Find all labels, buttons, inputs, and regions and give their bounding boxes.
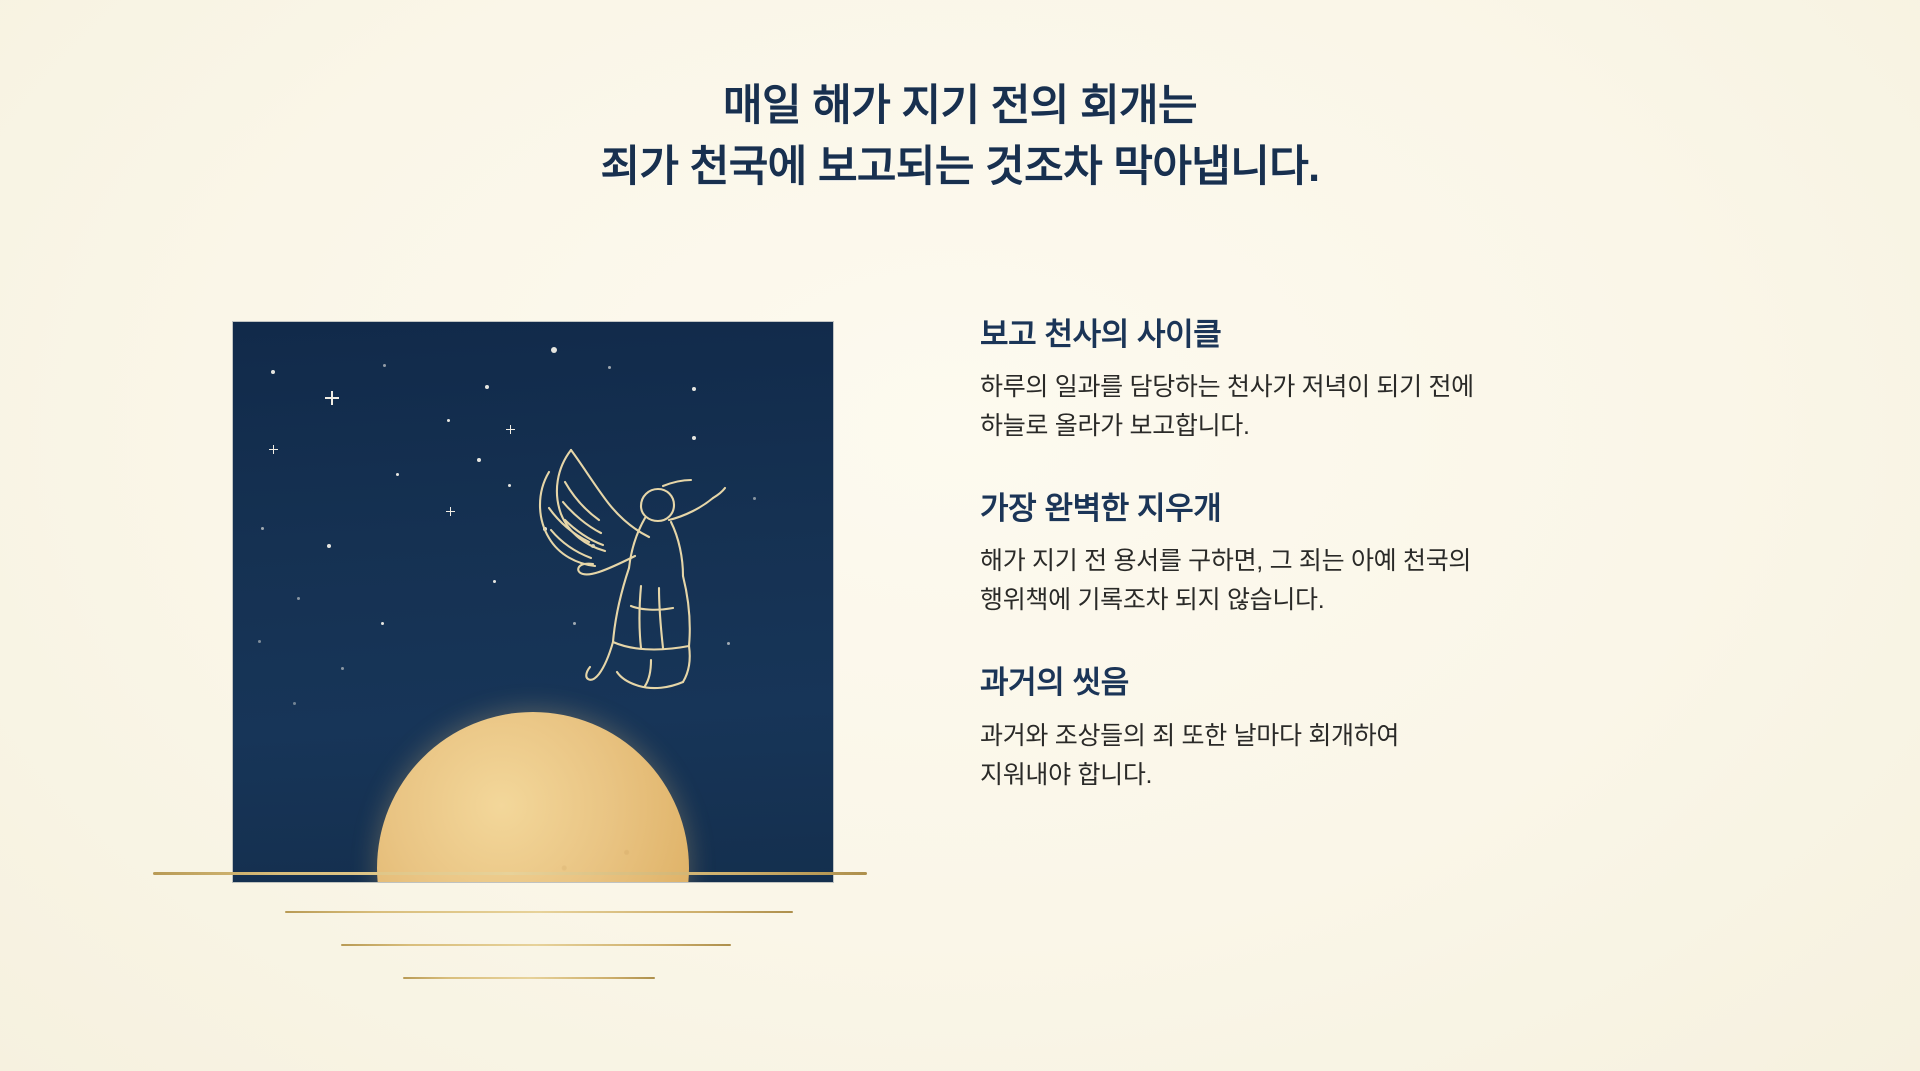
section-heading: 가장 완벽한 지우개 [980, 490, 1700, 527]
section-body: 해가 지기 전 용서를 구하면, 그 죄는 아예 천국의 행위책에 기록조차 되… [980, 542, 1700, 620]
section-body-line: 해가 지기 전 용서를 구하면, 그 죄는 아예 천국의 [980, 542, 1700, 581]
content-column: 보고 천사의 사이클 하루의 일과를 담당하는 천사가 저녁이 되기 전에 하늘… [980, 316, 1700, 795]
horizon-line-main [153, 872, 867, 875]
title-line-2: 죄가 천국에 보고되는 것조차 막아냅니다. [0, 137, 1920, 198]
horizon-line-4 [403, 977, 655, 979]
illustration [233, 322, 833, 882]
section-washing-of-past: 과거의 씻음 과거와 조상들의 죄 또한 날마다 회개하여 지워내야 합니다. [980, 664, 1700, 794]
section-body-line: 하루의 일과를 담당하는 천사가 저녁이 되기 전에 [980, 368, 1700, 407]
slide-root: 매일 해가 지기 전의 회개는 죄가 천국에 보고되는 것조차 막아냅니다. [0, 0, 1920, 1071]
gold-horizon-lines [153, 322, 913, 882]
page-title: 매일 해가 지기 전의 회개는 죄가 천국에 보고되는 것조차 막아냅니다. [0, 76, 1920, 198]
section-report-angel-cycle: 보고 천사의 사이클 하루의 일과를 담당하는 천사가 저녁이 되기 전에 하늘… [980, 316, 1700, 446]
section-body: 하루의 일과를 담당하는 천사가 저녁이 되기 전에 하늘로 올라가 보고합니다… [980, 368, 1700, 446]
section-heading: 보고 천사의 사이클 [980, 316, 1700, 353]
section-body-line: 과거와 조상들의 죄 또한 날마다 회개하여 [980, 717, 1700, 756]
section-body: 과거와 조상들의 죄 또한 날마다 회개하여 지워내야 합니다. [980, 717, 1700, 795]
horizon-line-3 [341, 944, 731, 946]
section-heading: 과거의 씻음 [980, 664, 1700, 701]
section-perfect-eraser: 가장 완벽한 지우개 해가 지기 전 용서를 구하면, 그 죄는 아예 천국의 … [980, 490, 1700, 620]
title-line-1: 매일 해가 지기 전의 회개는 [0, 76, 1920, 137]
horizon-line-2 [285, 911, 793, 913]
section-body-line: 행위책에 기록조차 되지 않습니다. [980, 581, 1700, 620]
section-body-line: 하늘로 올라가 보고합니다. [980, 407, 1700, 446]
section-body-line: 지워내야 합니다. [980, 756, 1700, 795]
